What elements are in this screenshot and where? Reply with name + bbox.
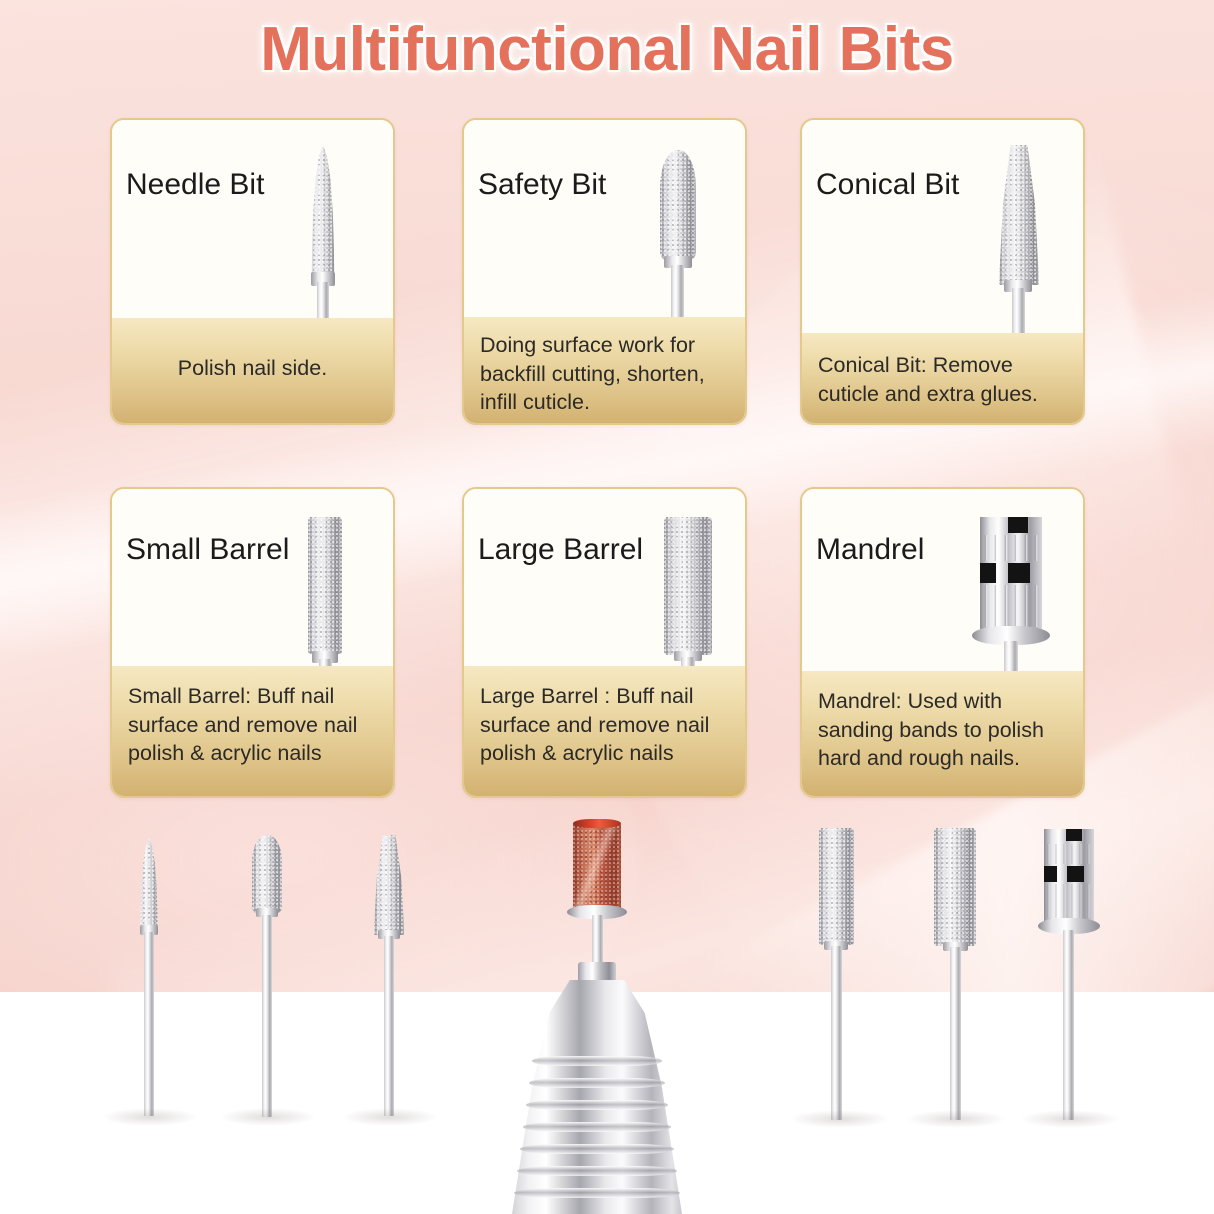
mandrel-shadow bbox=[1020, 1110, 1120, 1128]
card-title-conical: Conical Bit bbox=[816, 168, 959, 202]
bit-card-conical: Conical Bit: Remove cuticle and extra gl… bbox=[800, 118, 1085, 425]
card-title-needle: Needle Bit bbox=[126, 168, 264, 202]
needle-bit-shadow bbox=[102, 1108, 198, 1126]
card-footer: Mandrel: Used with sanding bands to poli… bbox=[802, 671, 1083, 796]
card-footer: Small Barrel: Buff nail surface and remo… bbox=[112, 666, 393, 796]
small-barrel-shadow bbox=[790, 1110, 890, 1128]
bit-card-needle: Polish nail side. bbox=[110, 118, 395, 425]
infographic-canvas: Multifunctional Nail Bits Polish nail si… bbox=[0, 0, 1214, 1214]
card-title-large-barrel: Large Barrel bbox=[478, 533, 643, 567]
card-title-small-barrel: Small Barrel bbox=[126, 533, 289, 567]
card-title-safety: Safety Bit bbox=[478, 168, 606, 202]
card-footer: Large Barrel : Buff nail surface and rem… bbox=[464, 666, 745, 796]
card-title-mandrel: Mandrel bbox=[816, 533, 924, 567]
card-footer: Polish nail side. bbox=[112, 318, 393, 423]
page-title: Multifunctional Nail Bits bbox=[0, 14, 1214, 85]
card-footer: Doing surface work for backfill cutting,… bbox=[464, 317, 745, 423]
bit-card-safety: Doing surface work for backfill cutting,… bbox=[462, 118, 747, 425]
band-shank bbox=[592, 915, 603, 967]
conical-bit-shadow bbox=[342, 1108, 438, 1126]
card-footer: Conical Bit: Remove cuticle and extra gl… bbox=[802, 333, 1083, 423]
card-description: Mandrel: Used with sanding bands to poli… bbox=[818, 687, 1071, 773]
large-barrel-shadow bbox=[906, 1110, 1006, 1128]
card-description: Small Barrel: Buff nail surface and remo… bbox=[128, 682, 381, 768]
safety-bit-shadow bbox=[220, 1108, 316, 1126]
card-description: Large Barrel : Buff nail surface and rem… bbox=[480, 682, 733, 768]
card-description: Conical Bit: Remove cuticle and extra gl… bbox=[818, 351, 1071, 408]
card-description: Doing surface work for backfill cutting,… bbox=[480, 331, 733, 417]
card-description: Polish nail side. bbox=[122, 354, 383, 383]
